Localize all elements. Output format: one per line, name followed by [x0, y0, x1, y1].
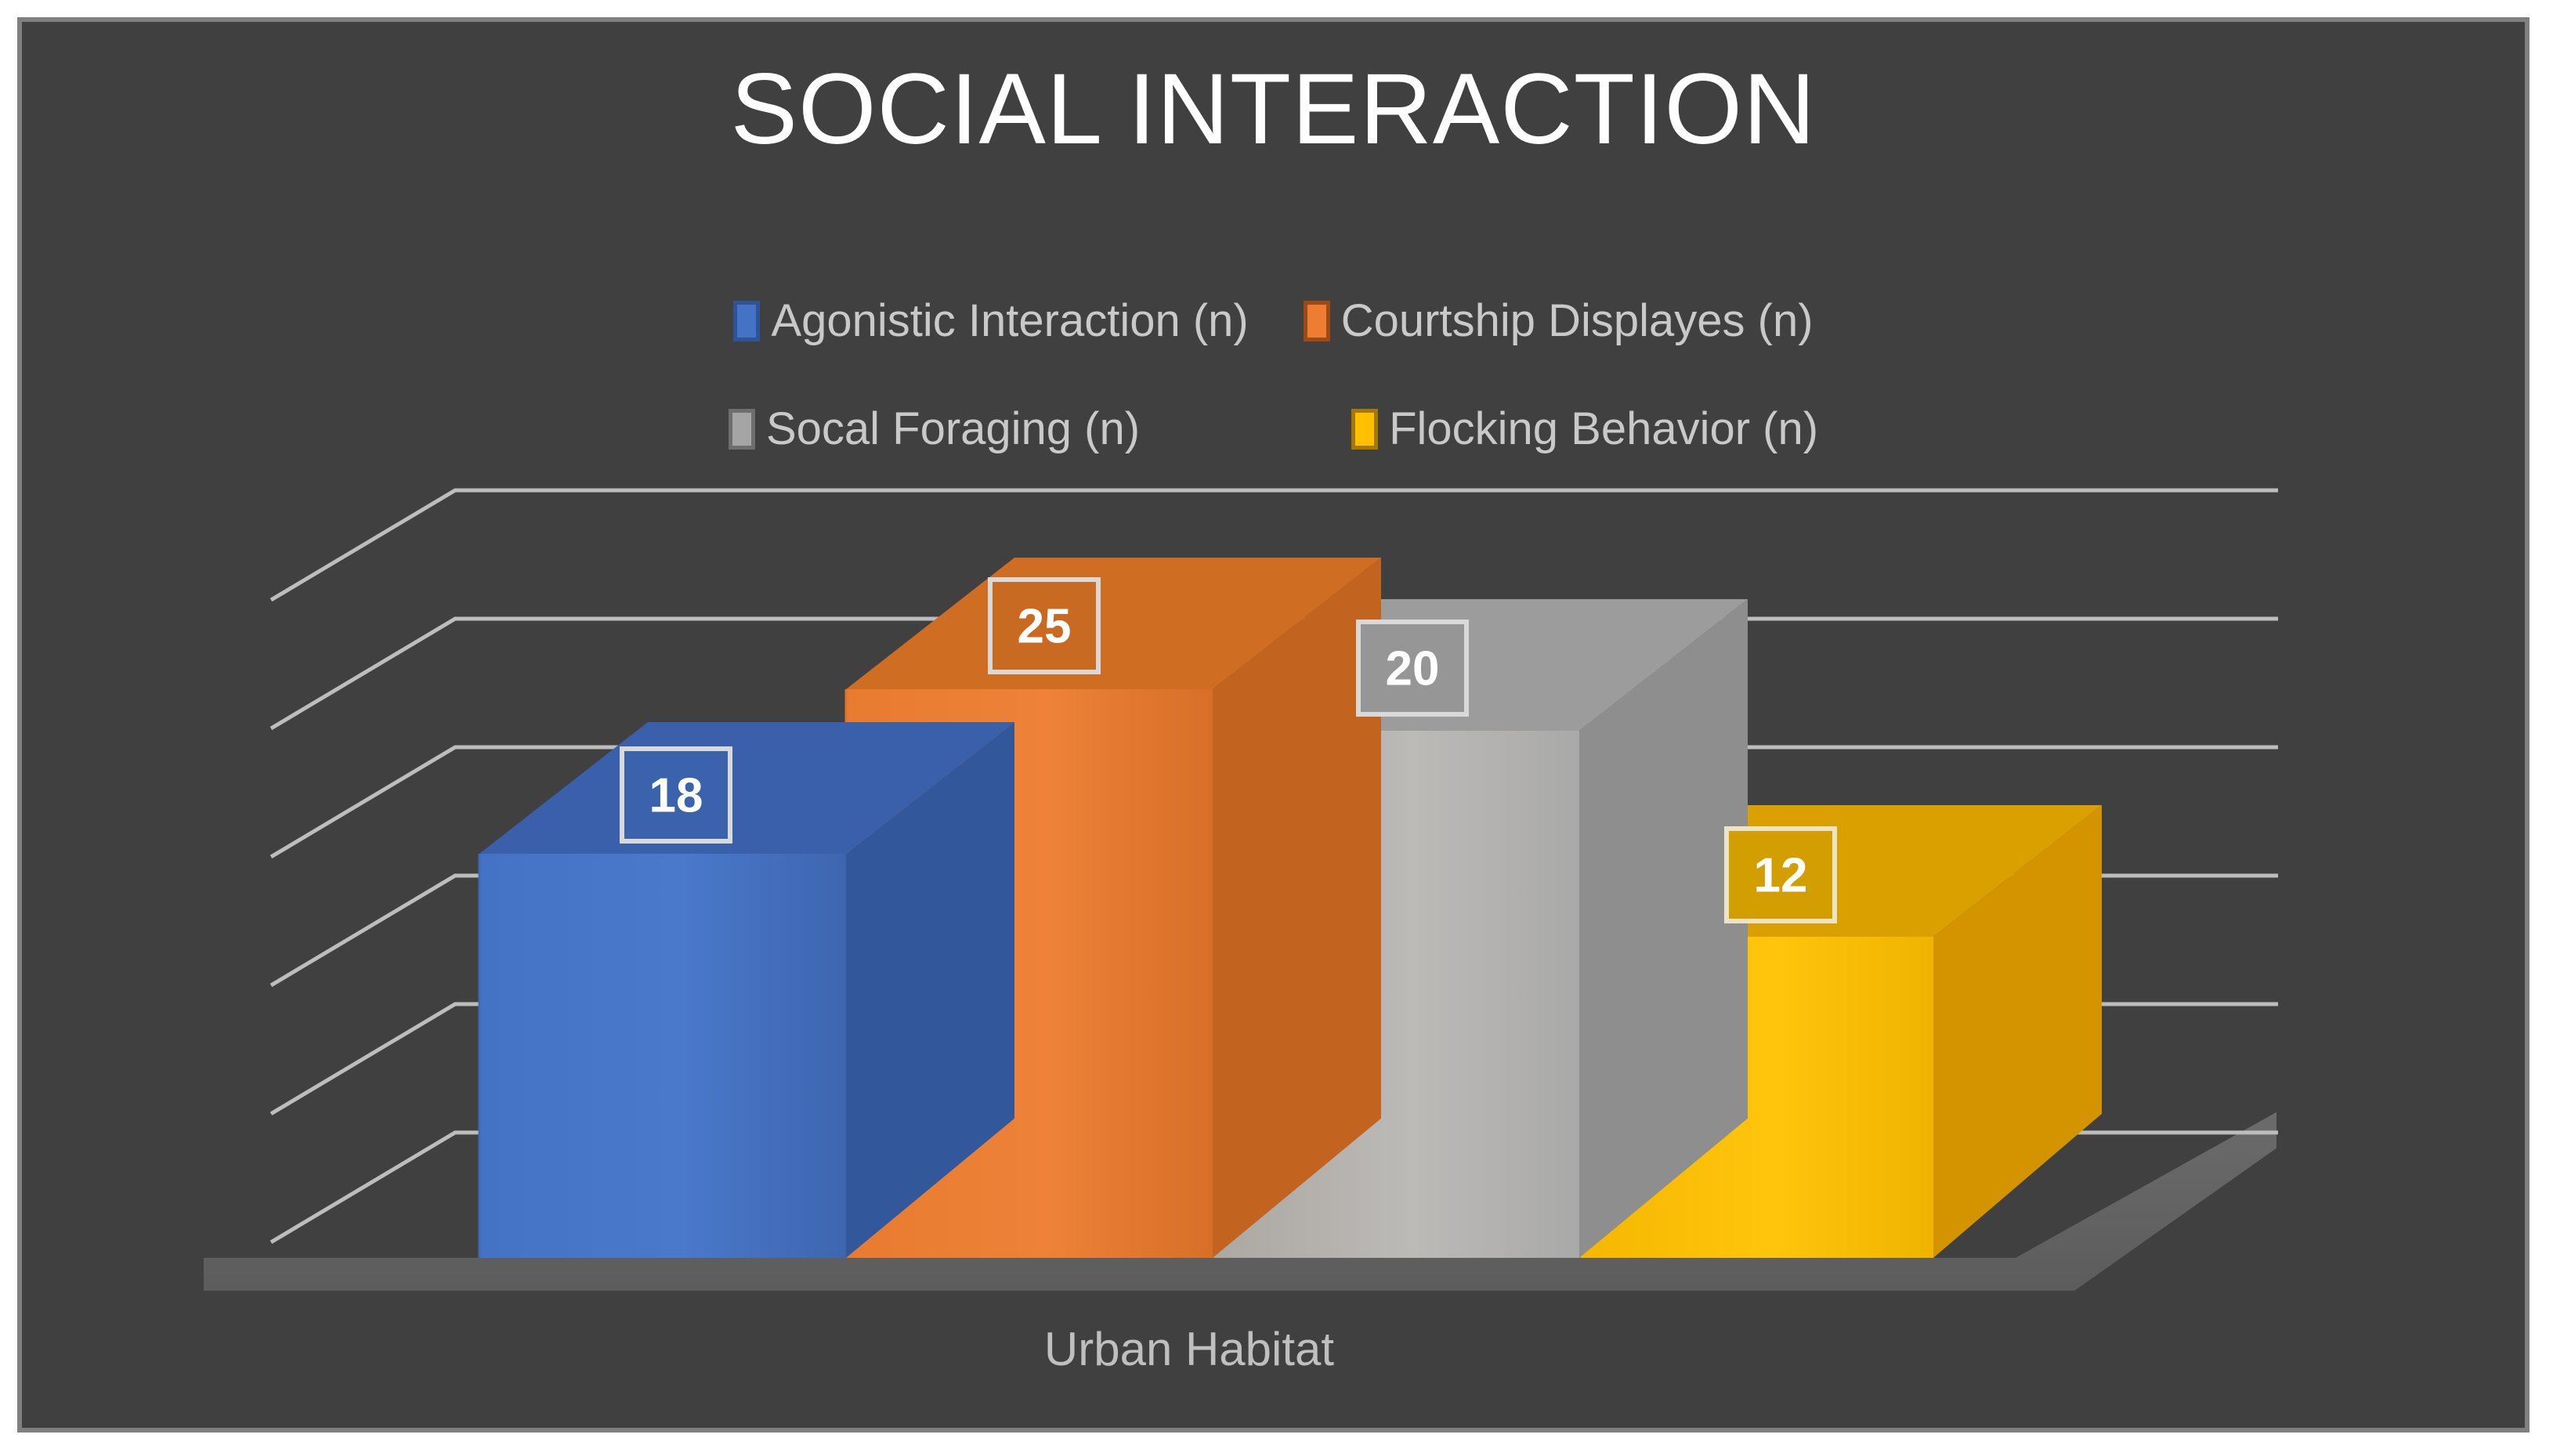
data-label-courtship-text: 25 — [1018, 599, 1072, 653]
bar-chart-3d: 18 25 20 12 — [22, 22, 2534, 1437]
bar-agonistic[interactable] — [479, 722, 1014, 1258]
chart-plot-area: SOCIAL INTERACTION Agonistic Interaction… — [22, 22, 2525, 1428]
data-label-foraging: 20 — [1358, 622, 1466, 714]
data-label-foraging-text: 20 — [1386, 641, 1440, 695]
chart-container: SOCIAL INTERACTION Agonistic Interaction… — [17, 17, 2529, 1433]
data-label-flocking: 12 — [1727, 829, 1835, 921]
data-label-agonistic: 18 — [622, 749, 730, 841]
x-axis-category-label: Urban Habitat — [132, 1322, 2247, 1376]
data-label-agonistic-text: 18 — [649, 768, 703, 822]
bar-agonistic-front — [479, 854, 846, 1258]
data-label-flocking-text: 12 — [1754, 848, 1808, 902]
data-label-courtship: 25 — [990, 580, 1098, 672]
